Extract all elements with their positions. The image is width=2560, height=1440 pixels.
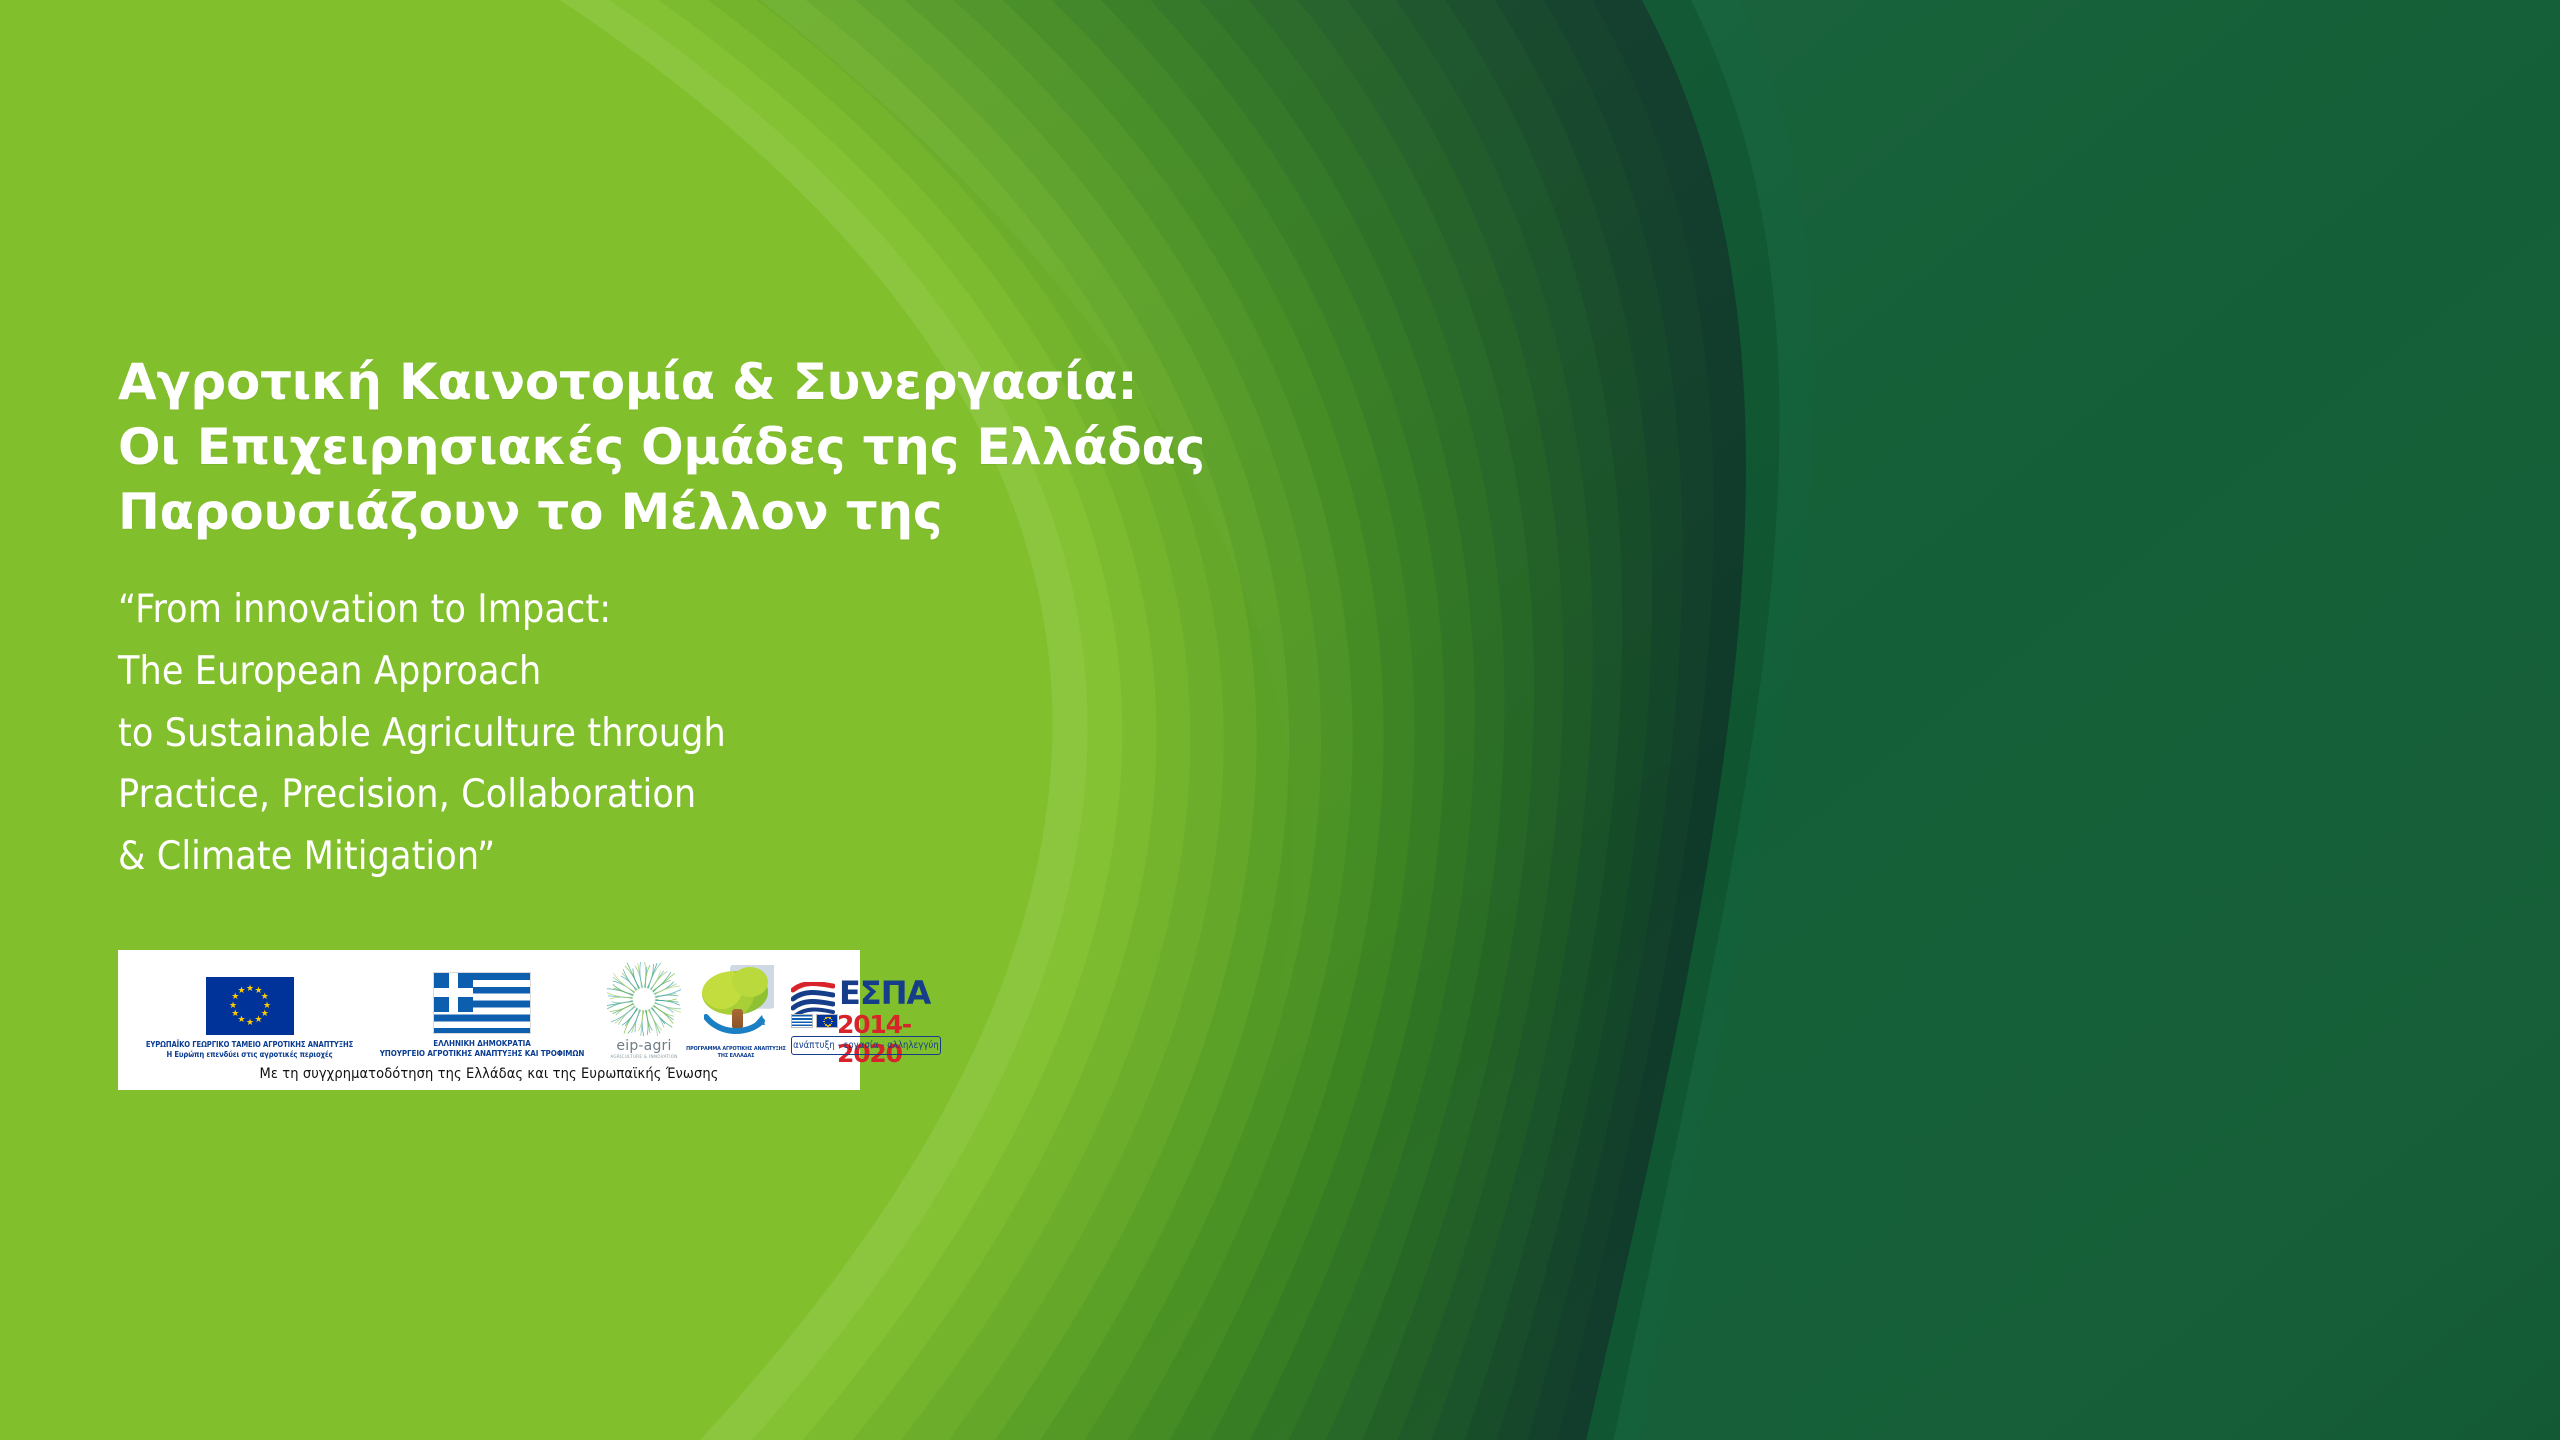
espa-waves-icon [791,982,835,1018]
tree-puzzle-icon [698,965,774,1041]
subtitle-line-5: & Climate Mitigation” [118,826,1098,888]
funding-logo-strip: ★★★★★★★★★★★★ ΕΥΡΩΠΑΪΚΟ ΓΕΩΡΓΙΚΟ ΤΑΜΕΙΟ Α… [118,950,860,1090]
subtitle-line-3: to Sustainable Agriculture through [118,703,1098,765]
eip-agri-starburst-icon [607,962,681,1036]
logo-paa-line-1: ΠΡΟΓΡΑΜΜΑ ΑΓΡΟΤΙΚΗΣ ΑΝΑΠΤΥΞΗΣ [681,1046,791,1053]
page-title: Αγροτική Καινοτομία & Συνεργασία: Οι Επι… [118,350,1098,545]
title-line-2: Οι Επιχειρησιακές Ομάδες της Ελλάδας [118,415,1098,480]
farmer-blue-shirt [2180,390,2560,1440]
logo-eu-line-2: Η Ευρώπη επενδύει στις αγροτικές περιοχέ… [142,1050,357,1060]
eu-flag-icon: ★★★★★★★★★★★★ [206,977,294,1035]
funding-caption: Με τη συγχρηματοδότηση της Ελλάδας και τ… [132,1060,846,1084]
logo-espa: ΕΣΠΑ 2014-2020 ανάπτυξη - εργασία - αλλη… [791,976,941,1060]
logo-paa-greece: ΠΡΟΓΡΑΜΜΑ ΑΓΡΟΤΙΚΗΣ ΑΝΑΠΤΥΞΗΣ ΤΗΣ ΕΛΛΑΔΑ… [681,965,791,1060]
logo-eip-agri: eip-agri AGRICULTURE & INNOVATION [607,962,681,1060]
logo-gr-line-1: ΕΛΛΗΝΙΚΗ ΔΗΜΟΚΡΑΤΙΑ [357,1039,607,1049]
banner-content: Αγροτική Καινοτομία & Συνεργασία: Οι Επι… [118,0,1098,1440]
subtitle-line-1: “From innovation to Impact: [118,579,1098,641]
mini-eu-flag-icon [816,1014,838,1028]
title-line-3: Παρουσιάζουν το Μέλλον της [118,480,1098,545]
farmer-green-shirt [1450,240,2210,1440]
espa-wordmark: ΕΣΠΑ [839,974,930,1012]
espa-tagline: ανάπτυξη - εργασία - αλληλεγγύη [791,1036,941,1055]
logo-eu-line-1: ΕΥΡΩΠΑΪΚΟ ΓΕΩΡΓΙΚΟ ΤΑΜΕΙΟ ΑΓΡΟΤΙΚΗΣ ΑΝΑΠ… [142,1040,357,1050]
field-photo [1120,0,2560,1440]
logo-paa-line-2: ΤΗΣ ΕΛΛΑΔΑΣ [681,1053,791,1060]
event-banner: Αγροτική Καινοτομία & Συνεργασία: Οι Επι… [0,0,2560,1440]
mini-greek-flag-icon [791,1014,813,1028]
subtitle-line-2: The European Approach [118,641,1098,703]
logo-eu-eafrd: ★★★★★★★★★★★★ ΕΥΡΩΠΑΪΚΟ ΓΕΩΡΓΙΚΟ ΤΑΜΕΙΟ Α… [142,977,357,1059]
eip-agri-wordmark: eip-agri [616,1038,671,1054]
subtitle-line-4: Practice, Precision, Collaboration [118,764,1098,826]
subtitle: “From innovation to Impact: The European… [118,579,1098,887]
greek-flag-icon [433,972,531,1034]
logo-gr-line-2: ΥΠΟΥΡΓΕΙΟ ΑΓΡΟΤΙΚΗΣ ΑΝΑΠΤΥΞΗΣ ΚΑΙ ΤΡΟΦΙΜ… [357,1049,607,1059]
title-line-1: Αγροτική Καινοτομία & Συνεργασία: [118,350,1098,415]
tree-trunk [1260,760,1274,830]
logo-hellenic-republic: ΕΛΛΗΝΙΚΗ ΔΗΜΟΚΡΑΤΙΑ ΥΠΟΥΡΓΕΙΟ ΑΓΡΟΤΙΚΗΣ … [357,972,607,1059]
shirt-logo-patch [2348,826,2426,866]
